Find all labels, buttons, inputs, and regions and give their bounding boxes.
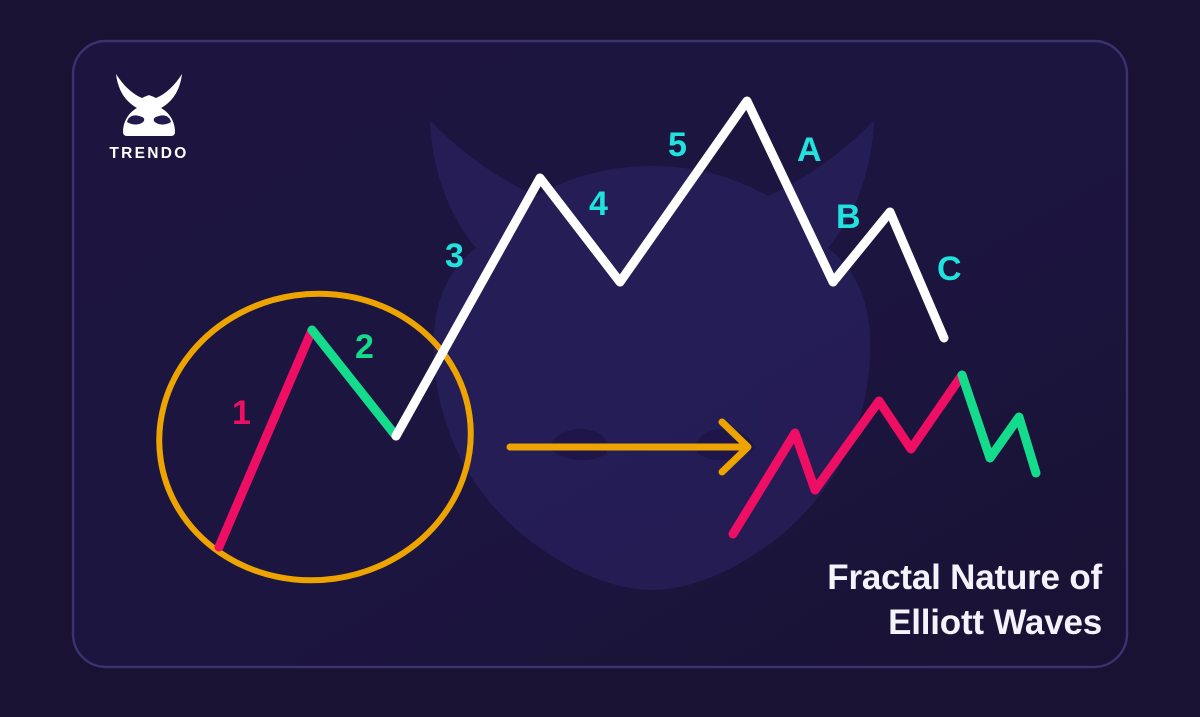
wave-label-a: A — [797, 133, 822, 167]
infographic-canvas: TRENDO 1 2 3 4 5 A B C Fractal Nature of… — [0, 0, 1200, 717]
page-title-line-1: Fractal Nature of — [682, 556, 1102, 601]
fractal-zigzag-impulse-path — [733, 375, 962, 534]
wave-label-b: B — [836, 200, 861, 234]
wave-label-1: 1 — [232, 396, 251, 430]
wave-label-2: 2 — [355, 330, 374, 364]
wave-segment-1 — [219, 330, 312, 547]
page-title-line-2: Elliott Waves — [682, 601, 1102, 646]
arrow-right-icon — [510, 422, 748, 472]
highlight-ellipse — [141, 274, 490, 601]
wave-label-3: 3 — [445, 239, 464, 273]
page-title: Fractal Nature of Elliott Waves — [682, 556, 1102, 646]
wave-label-c: C — [937, 252, 962, 286]
wave-label-5: 5 — [668, 128, 687, 162]
wave-label-4: 4 — [589, 187, 608, 221]
fractal-zigzag-correction-path — [962, 375, 1036, 473]
wave-segment-2 — [312, 330, 396, 436]
